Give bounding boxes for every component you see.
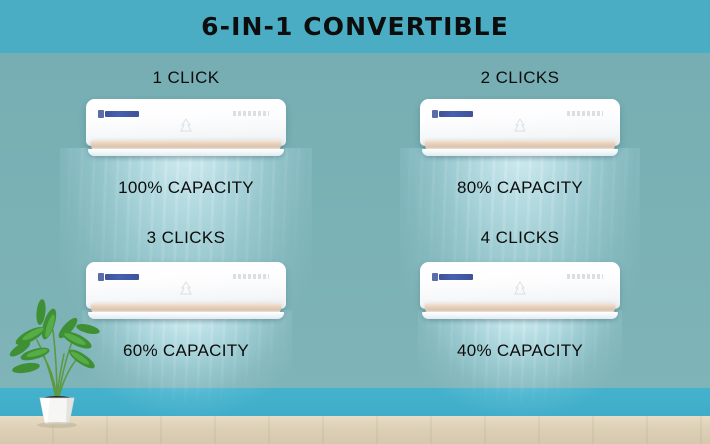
panel-1-capacity-label: 100% CAPACITY	[46, 178, 326, 198]
ac-center-emblem-icon	[511, 281, 529, 297]
brand-logo-icon	[439, 274, 473, 280]
brand-logo-icon	[105, 111, 139, 117]
potted-plant-decor	[6, 296, 110, 428]
ac-unit-2[interactable]	[420, 99, 620, 157]
ac-unit-3[interactable]	[86, 262, 286, 320]
brand-wordmark-icon	[233, 274, 269, 279]
brand-logo-icon	[105, 274, 139, 280]
brand-wordmark-icon	[233, 111, 269, 116]
ac-center-emblem-icon	[177, 118, 195, 134]
ac-unit-1[interactable]	[86, 99, 286, 157]
panel-4-clicks-label: 4 CLICKS	[380, 228, 660, 248]
ac-unit-4[interactable]	[420, 262, 620, 320]
brand-wordmark-icon	[567, 111, 603, 116]
page-title: 6-IN-1 CONVERTIBLE	[0, 0, 710, 53]
panel-2-capacity-label: 80% CAPACITY	[380, 178, 660, 198]
ac-unit-louver-edge	[88, 149, 284, 156]
ac-center-emblem-icon	[511, 118, 529, 134]
ac-unit-louver-edge	[88, 312, 284, 319]
ac-unit-louver-edge	[422, 312, 618, 319]
brand-logo-icon	[439, 111, 473, 117]
panel-3-clicks-label: 3 CLICKS	[46, 228, 326, 248]
panel-2-clicks-label: 2 CLICKS	[380, 68, 660, 88]
header-banner: 6-IN-1 CONVERTIBLE	[0, 0, 710, 53]
ac-center-emblem-icon	[177, 281, 195, 297]
panel-1-clicks-label: 1 CLICK	[46, 68, 326, 88]
panel-4-capacity-label: 40% CAPACITY	[380, 341, 660, 361]
brand-wordmark-icon	[567, 274, 603, 279]
ac-unit-louver-edge	[422, 149, 618, 156]
product-feature-graphic: 1 CLICK 100% CAPACITY 2 CLICKS 80% CAPAC…	[0, 0, 710, 444]
